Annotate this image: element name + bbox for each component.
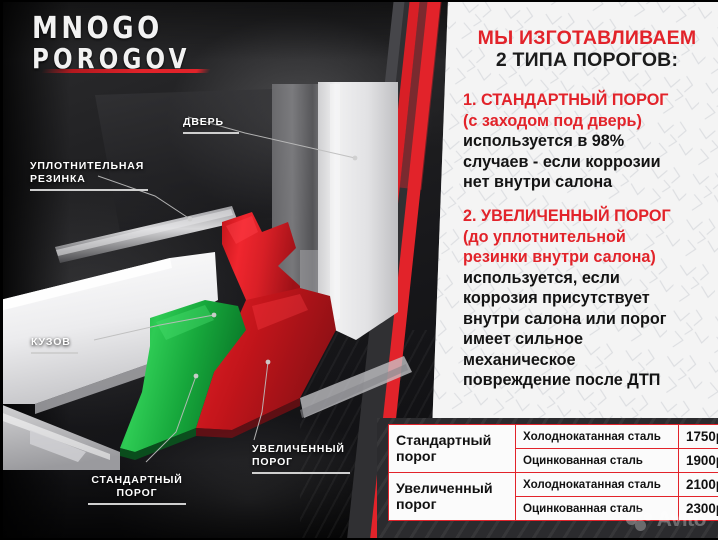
price-value-1: 1750р. [679, 425, 718, 449]
price-table: Стандартный порог Холоднокатанная сталь … [388, 424, 718, 521]
callout-door-text: ДВЕРЬ [183, 116, 224, 128]
callout-rubber-seal-underline [30, 189, 148, 191]
callout-door-underline [183, 132, 239, 134]
callout-rubber-seal-text: УПЛОТНИТЕЛЬНАЯ РЕЗИНКА [30, 160, 144, 185]
table-row: Увеличенный порог Холоднокатанная сталь … [389, 473, 718, 497]
block1-subtitle: (с заходом под дверь) [463, 111, 715, 132]
price-steel-3: Холоднокатанная сталь [516, 473, 679, 497]
block2-body-5: механическое [463, 350, 715, 371]
block2-subtitle-2: резинки внутри салона) [463, 247, 715, 268]
callout-door: ДВЕРЬ [183, 103, 239, 147]
block2-body-1: используется, если [463, 268, 715, 289]
block2-body-6: повреждение после ДТП [463, 370, 715, 391]
price-kind-increased: Увеличенный порог [389, 473, 516, 521]
poster-canvas: MNOGO POROGOV ДВЕРЬ УПЛОТНИТЕЛЬНАЯ РЕЗИН… [0, 0, 718, 540]
callout-body-underline [31, 352, 78, 354]
callout-increased-sill-underline [252, 472, 350, 474]
callout-increased-sill-text: УВЕЛИЧЕННЫЙ ПОРОГ [252, 443, 345, 468]
callout-standard-sill-underline [88, 503, 186, 505]
price-value-3: 2100р. [679, 473, 718, 497]
block1-body-3: нет внутри салона [463, 172, 715, 193]
callout-rubber-seal: УПЛОТНИТЕЛЬНАЯ РЕЗИНКА [30, 147, 148, 204]
price-steel-2: Оцинкованная сталь [516, 449, 679, 473]
block2-title: 2. УВЕЛИЧЕННЫЙ ПОРОГ [463, 206, 715, 227]
headline-line-2: 2 ТИПА ПОРОГОВ: [462, 49, 712, 71]
callout-standard-sill: СТАНДАРТНЫЙ ПОРОГ [88, 461, 186, 518]
headline-line-1: МЫ ИЗГОТАВЛИВАЕМ [462, 27, 712, 49]
block2-body-4: имеет сильное [463, 329, 715, 350]
price-kind-standard: Стандартный порог [389, 425, 516, 473]
price-value-2: 1900р. [679, 449, 718, 473]
sill-type-block-standard: 1. СТАНДАРТНЫЙ ПОРОГ (с заходом под двер… [463, 90, 715, 193]
logo-red-swoosh [41, 69, 211, 73]
price-value-4: 2300р. [679, 497, 718, 521]
block1-body-1: используется в 98% [463, 131, 715, 152]
block2-body-3: внутри салона или порог [463, 309, 715, 330]
brand-logo[interactable]: MNOGO POROGOV [32, 13, 212, 75]
price-steel-4: Оцинкованная сталь [516, 497, 679, 521]
page-title: МЫ ИЗГОТАВЛИВАЕМ 2 ТИПА ПОРОГОВ: [462, 27, 712, 71]
callout-body: КУЗОВ [31, 323, 78, 367]
sill-type-block-increased: 2. УВЕЛИЧЕННЫЙ ПОРОГ (до уплотнительной … [463, 206, 715, 391]
block1-title: 1. СТАНДАРТНЫЙ ПОРОГ [463, 90, 715, 111]
callout-increased-sill: УВЕЛИЧЕННЫЙ ПОРОГ [252, 430, 350, 487]
price-steel-1: Холоднокатанная сталь [516, 425, 679, 449]
block2-body-2: коррозия присутствует [463, 288, 715, 309]
table-row: Стандартный порог Холоднокатанная сталь … [389, 425, 718, 449]
callout-body-text: КУЗОВ [31, 336, 71, 348]
logo-line-mnogo: MNOGO [32, 13, 212, 44]
block1-body-2: случаев - если коррозии [463, 152, 715, 173]
callout-standard-sill-text: СТАНДАРТНЫЙ ПОРОГ [91, 474, 182, 499]
block2-subtitle-1: (до уплотнительной [463, 227, 715, 248]
